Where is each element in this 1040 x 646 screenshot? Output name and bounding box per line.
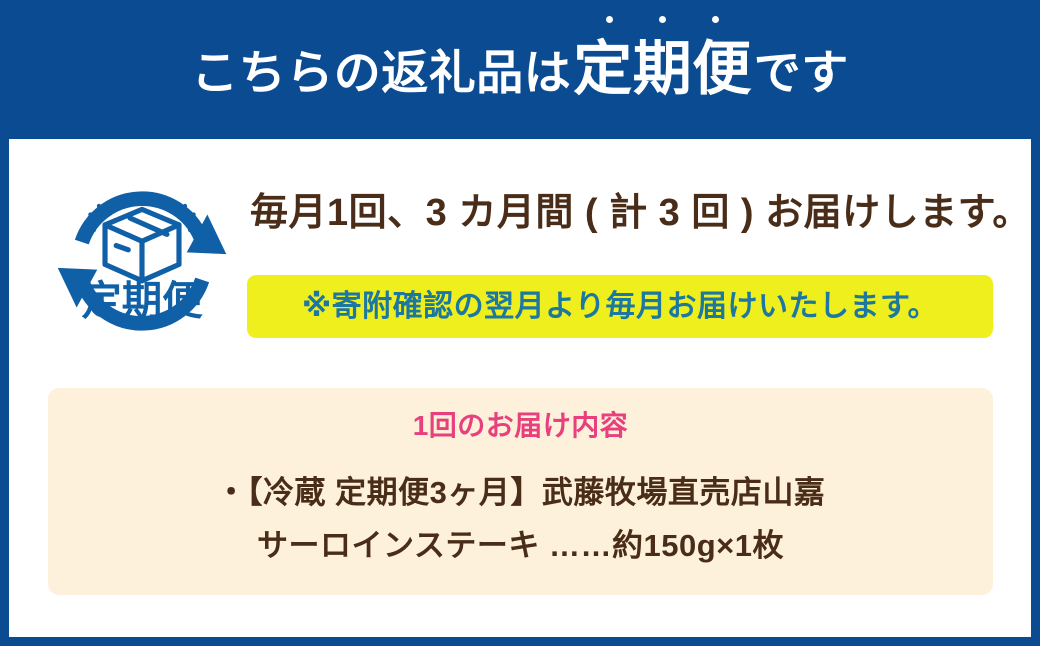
teikibin-info-banner: こちらの返礼品は 定期便 です: [0, 0, 1040, 646]
delivery-sentence: 毎月1回、3 カ月間 ( 計 3 回 ) お届けします。: [250, 194, 1031, 232]
contents-box: 1回のお届け内容 ・【冷蔵 定期便3ヶ月】武藤牧場直売店山嘉 サーロインステーキ…: [48, 388, 993, 595]
note-highlight-box: ※寄附確認の翌月より毎月お届けいたします。: [247, 275, 993, 338]
header-title: こちらの返礼品は 定期便 です: [191, 40, 849, 99]
teikibin-cycle-icon: 定期便: [56, 175, 228, 347]
header-title-suffix: です: [754, 49, 849, 96]
list-item: サーロインステーキ ……約150g×1枚: [48, 519, 993, 572]
body-area: 定期便 毎月1回、3 カ月間 ( 計 3 回 ) お届けします。 ※寄附確認の翌…: [9, 139, 1031, 637]
note-text: ※寄附確認の翌月より毎月お届けいたします。: [302, 292, 938, 322]
contents-title: 1回のお届け内容: [48, 412, 993, 440]
header-title-prefix: こちらの返礼品は: [191, 49, 571, 96]
header-title-emphasis-text: 定期便: [573, 36, 752, 102]
contents-list: ・【冷蔵 定期便3ヶ月】武藤牧場直売店山嘉 サーロインステーキ ……約150g×…: [48, 466, 993, 573]
list-item: ・【冷蔵 定期便3ヶ月】武藤牧場直売店山嘉: [48, 466, 993, 519]
frame-border-bottom: [0, 637, 1040, 646]
header-band: こちらの返礼品は 定期便 です: [0, 0, 1040, 139]
header-title-emphasis: 定期便: [571, 40, 754, 99]
emphasis-dots-icon: [571, 16, 754, 23]
teikibin-icon-label: 定期便: [81, 277, 203, 323]
